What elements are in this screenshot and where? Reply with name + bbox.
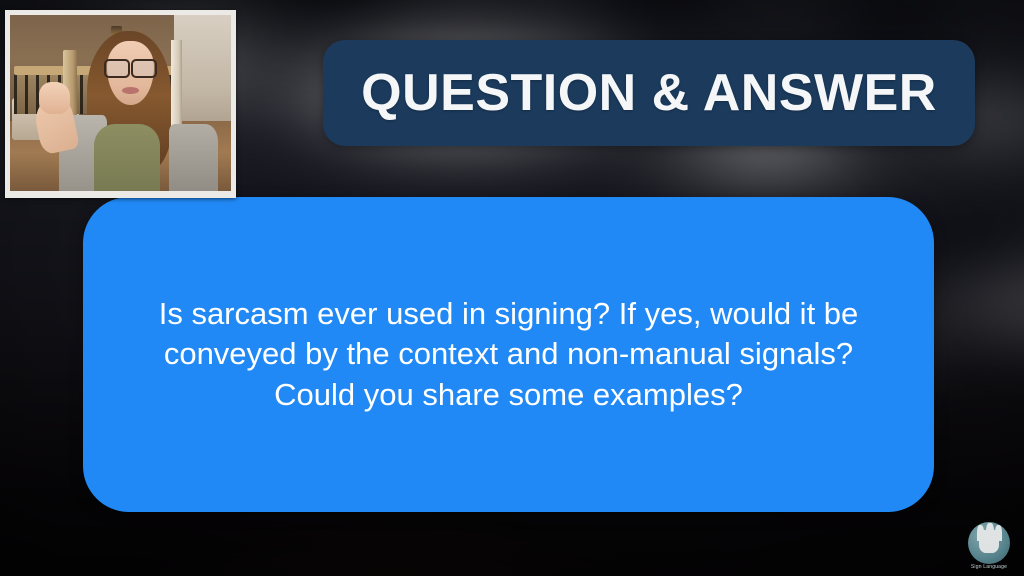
- watermark-label: Sign Language: [964, 564, 1014, 570]
- presenter-webcam-thumbnail[interactable]: [5, 10, 236, 198]
- slide-title-banner: QUESTION & ANSWER: [323, 40, 975, 146]
- question-text: Is sarcasm ever used in signing? If yes,…: [124, 294, 894, 415]
- question-card: Is sarcasm ever used in signing? If yes,…: [83, 197, 934, 512]
- webcam-person-signing-hand: [39, 82, 70, 114]
- webcam-person-glasses: [104, 59, 157, 74]
- watermark-logo: Sign Language: [964, 520, 1014, 570]
- webcam-person-cardigan-right: [169, 124, 218, 191]
- webcam-video-image: [10, 15, 231, 191]
- presentation-slide: QUESTION & ANSWER Is sarcasm ever used i…: [0, 0, 1024, 576]
- hand-logo-icon: [968, 522, 1010, 564]
- webcam-door-frame: [171, 40, 182, 132]
- slide-title: QUESTION & ANSWER: [361, 63, 937, 123]
- webcam-person-shirt: [94, 124, 160, 191]
- logo-palm: [979, 530, 999, 554]
